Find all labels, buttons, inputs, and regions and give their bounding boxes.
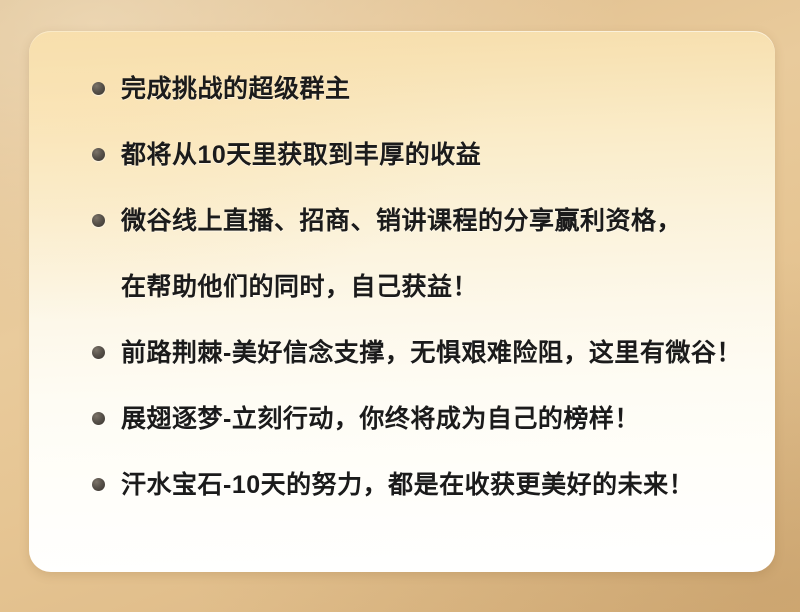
list-item-text: 在帮助他们的同时，自己获益！: [121, 269, 478, 305]
bullet-dot-icon: [92, 412, 105, 425]
bullet-dot-icon: [92, 148, 105, 161]
bullet-spacer: [92, 280, 105, 293]
list-item-text: 微谷线上直播、招商、销讲课程的分享赢利资格，: [121, 203, 682, 239]
content-card: 完成挑战的超级群主 都将从10天里获取到丰厚的收益 微谷线上直播、招商、销讲课程…: [29, 31, 775, 572]
bullet-dot-icon: [92, 82, 105, 95]
slide-root: 完成挑战的超级群主 都将从10天里获取到丰厚的收益 微谷线上直播、招商、销讲课程…: [0, 0, 800, 612]
bullet-dot-icon: [92, 346, 105, 359]
list-item: 前路荆棘-美好信念支撑，无惧艰难险阻，这里有微谷！: [29, 335, 775, 371]
list-item: 完成挑战的超级群主: [29, 71, 775, 107]
list-item-text: 前路荆棘-美好信念支撑，无惧艰难险阻，这里有微谷！: [121, 335, 742, 371]
bullet-dot-icon: [92, 478, 105, 491]
list-item: 展翅逐梦-立刻行动，你终将成为自己的榜样！: [29, 401, 775, 437]
list-item-text: 完成挑战的超级群主: [121, 71, 351, 107]
list-item: 都将从10天里获取到丰厚的收益: [29, 137, 775, 173]
list-item: 微谷线上直播、招商、销讲课程的分享赢利资格，: [29, 203, 775, 239]
list-item-text: 展翅逐梦-立刻行动，你终将成为自己的榜样！: [121, 401, 640, 437]
list-item-text: 汗水宝石-10天的努力，都是在收获更美好的未来！: [121, 467, 694, 503]
list-item-continuation: 在帮助他们的同时，自己获益！: [29, 269, 775, 305]
bullet-dot-icon: [92, 214, 105, 227]
list-item-text: 都将从10天里获取到丰厚的收益: [121, 137, 481, 173]
list-item: 汗水宝石-10天的努力，都是在收获更美好的未来！: [29, 467, 775, 503]
bullet-list: 完成挑战的超级群主 都将从10天里获取到丰厚的收益 微谷线上直播、招商、销讲课程…: [29, 71, 775, 533]
